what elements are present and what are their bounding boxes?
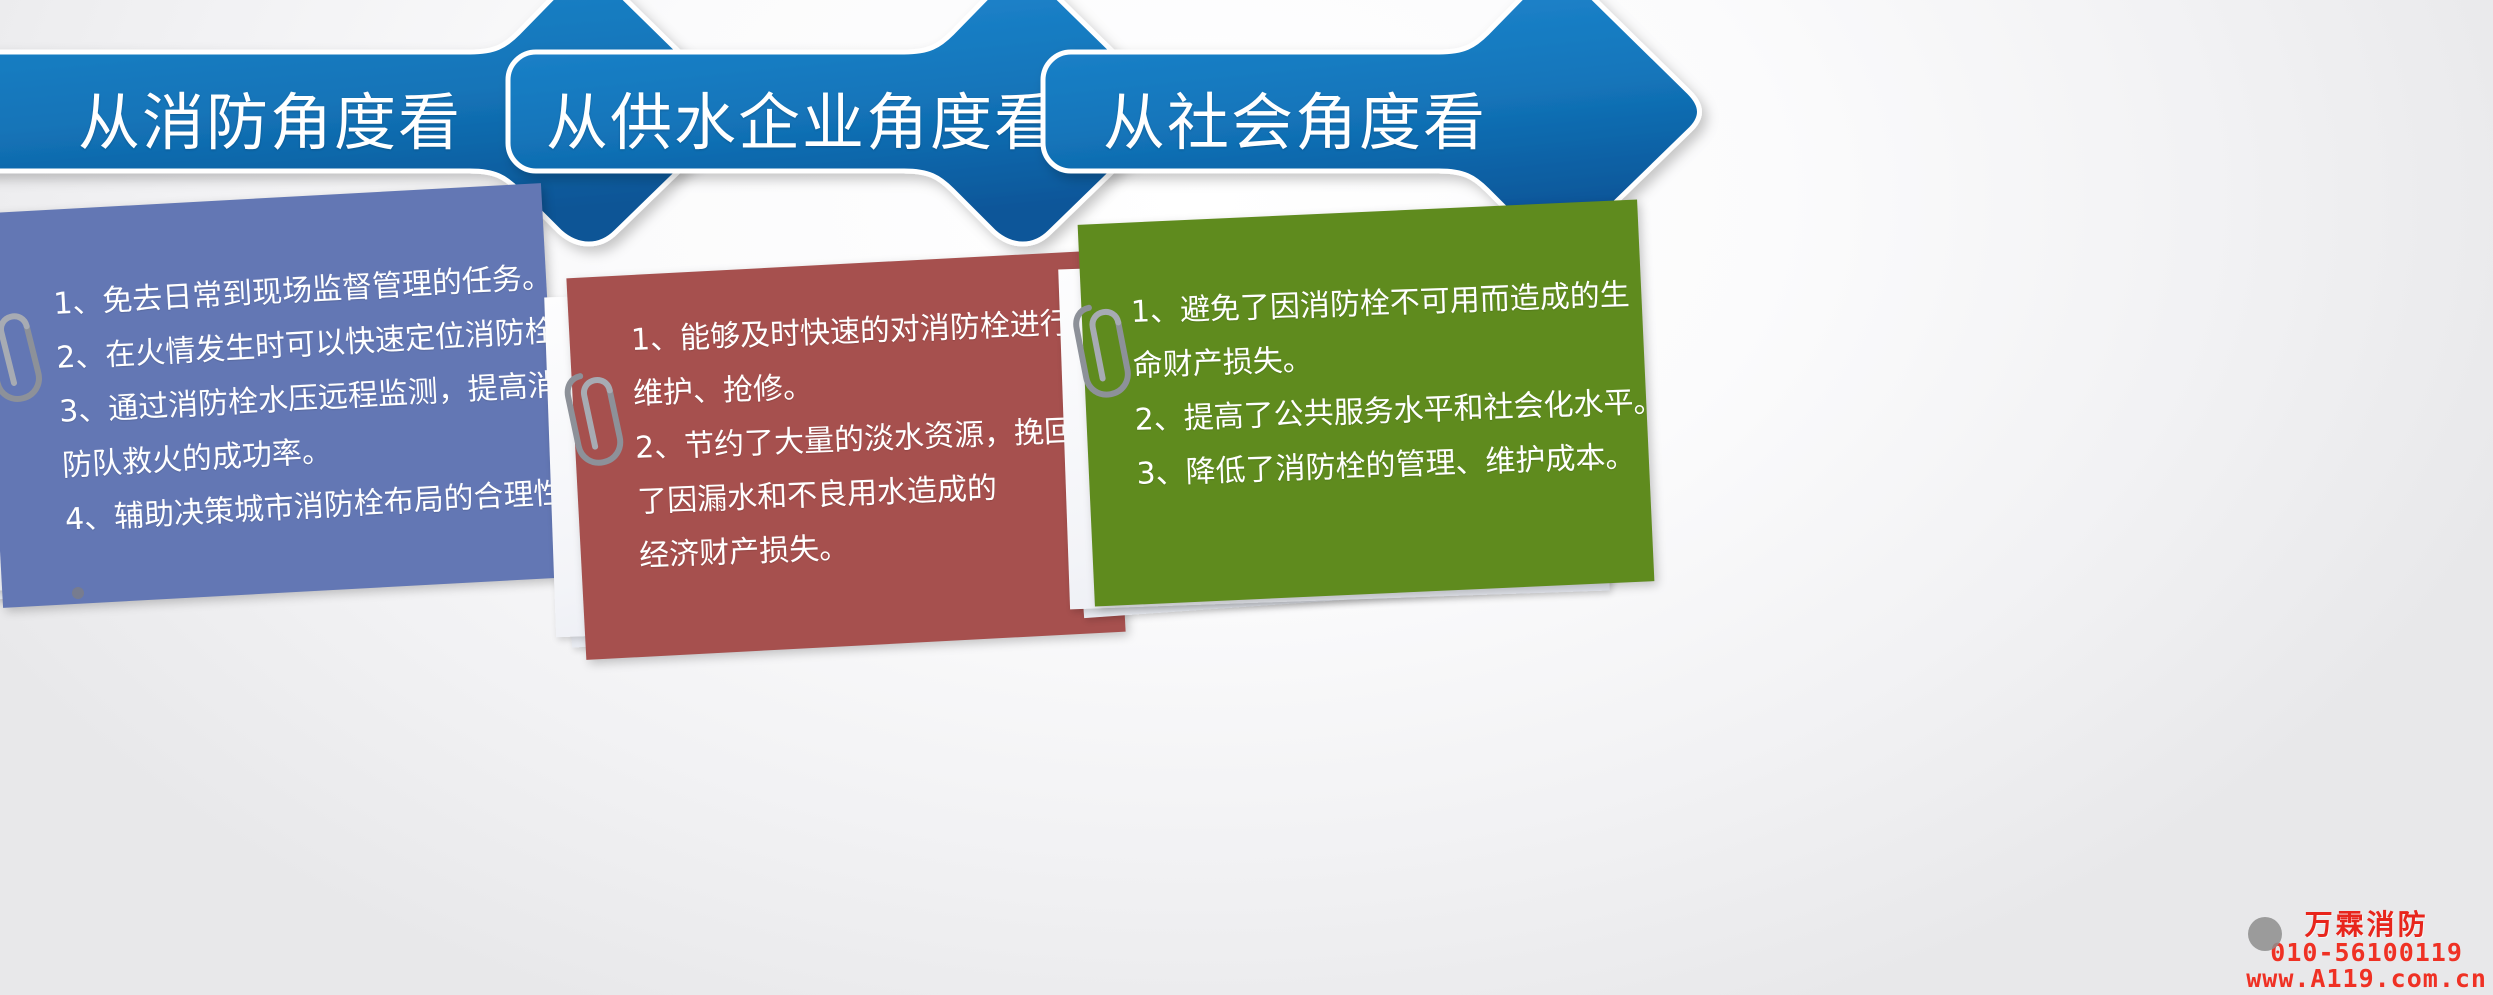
slide-canvas: 从消防角度看 从供水企业角度看 [0,0,2493,995]
decorative-dot [72,587,84,599]
watermark-website: www.A119.com.cn [2246,966,2487,992]
note-text-1: 1、免去日常到现场监督管理的任务。 2、在火情发生时可以快速定位消防栓。 3、通… [52,249,595,547]
watermark: 万霖消防 010-56100119 www.A119.com.cn [2246,911,2487,991]
watermark-phone: 010-56100119 [2246,940,2487,966]
note-text-3: 1、避免了因消防栓不可用而造成的生 命财产损失。 2、提高了公共服务水平和社会化… [1130,268,1666,502]
note-group-3: 1、避免了因消防栓不可用而造成的生 命财产损失。 2、提高了公共服务水平和社会化… [1020,190,2120,620]
watermark-brand: 万霖消防 [2246,911,2487,940]
right-arrow-icon [1035,0,1775,205]
note-text-2: 1、能够及时快速的对消防栓进行 维护、抢修。 2、节约了大量的淡水资源，挽回 了… [630,297,1079,584]
banner-arrow-3: 从社会角度看 [1035,0,1775,205]
